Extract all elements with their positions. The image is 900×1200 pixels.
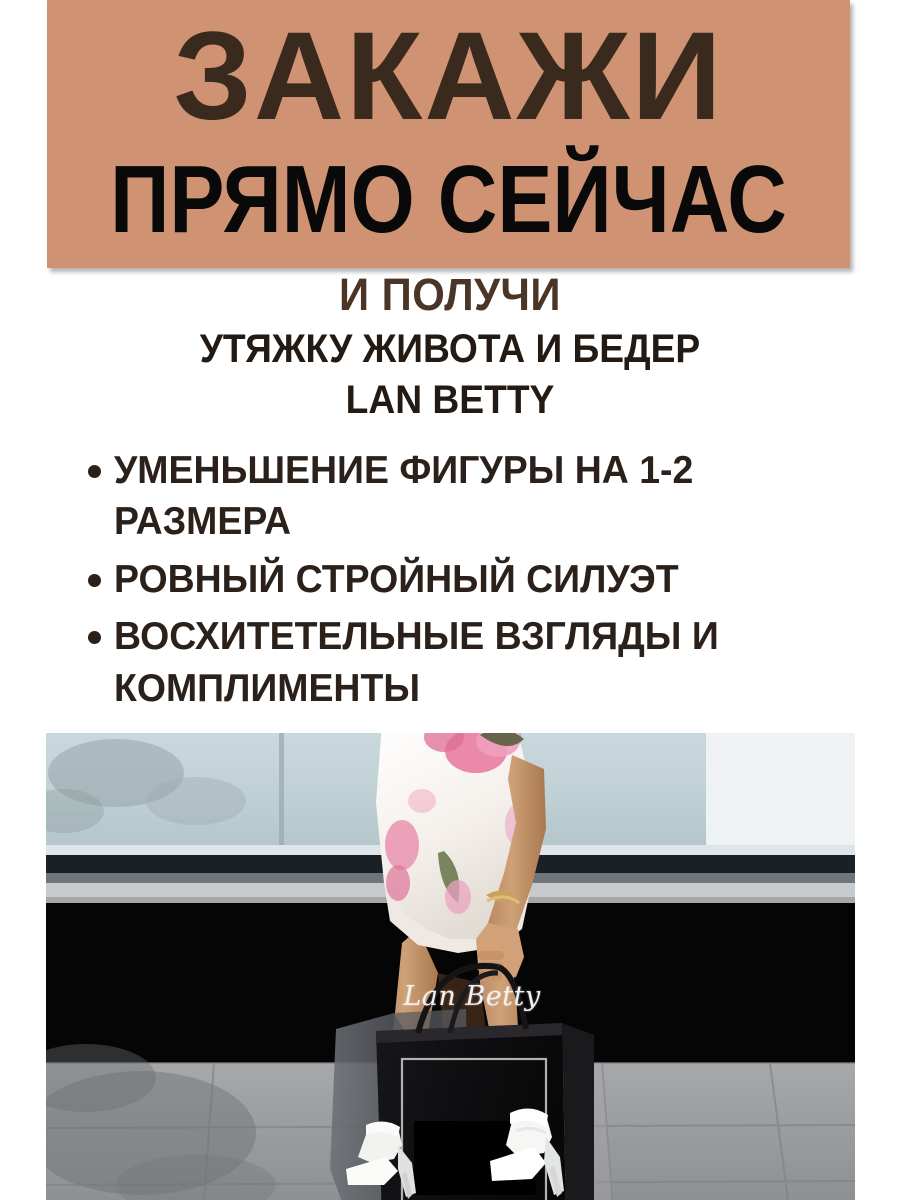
subheading-line-1: И ПОЛУЧИ	[32, 270, 869, 320]
headline-secondary: ПРЯМО СЕЙЧАС	[103, 152, 794, 248]
promo-page: ЗАКАЖИ ПРЯМО СЕЙЧАС И ПОЛУЧИ УТЯЖКУ ЖИВО…	[0, 0, 900, 1200]
subheading-line-2: УТЯЖКУ ЖИВОТА И БЕДЕР	[32, 326, 869, 372]
bullet-icon	[88, 465, 101, 478]
list-item: ВОСХИТЕТЕЛЬНЫЕ ВЗГЛЯДЫ И КОМПЛИМЕНТЫ	[88, 611, 878, 714]
headline-primary: ЗАКАЖИ	[47, 14, 850, 139]
photo-illustration	[46, 733, 855, 1200]
brand-name: LAN BETTY	[32, 377, 869, 423]
benefit-label: РОВНЫЙ СТРОЙНЫЙ СИЛУЭТ	[114, 554, 847, 605]
product-photo: Lan Betty	[46, 733, 855, 1200]
bullet-icon	[88, 574, 101, 587]
benefit-label: УМЕНЬШЕНИЕ ФИГУРЫ НА 1-2 РАЗМЕРА	[114, 445, 847, 548]
subheading-block: И ПОЛУЧИ УТЯЖКУ ЖИВОТА И БЕДЕР LAN BETTY	[0, 270, 900, 423]
headline-banner: ЗАКАЖИ ПРЯМО СЕЙЧАС	[47, 0, 850, 268]
list-item: РОВНЫЙ СТРОЙНЫЙ СИЛУЭТ	[88, 554, 878, 605]
bullet-icon	[88, 631, 101, 644]
benefits-list: УМЕНЬШЕНИЕ ФИГУРЫ НА 1-2 РАЗМЕРА РОВНЫЙ …	[88, 445, 878, 720]
benefit-label: ВОСХИТЕТЕЛЬНЫЕ ВЗГЛЯДЫ И КОМПЛИМЕНТЫ	[114, 611, 847, 714]
list-item: УМЕНЬШЕНИЕ ФИГУРЫ НА 1-2 РАЗМЕРА	[88, 445, 878, 548]
